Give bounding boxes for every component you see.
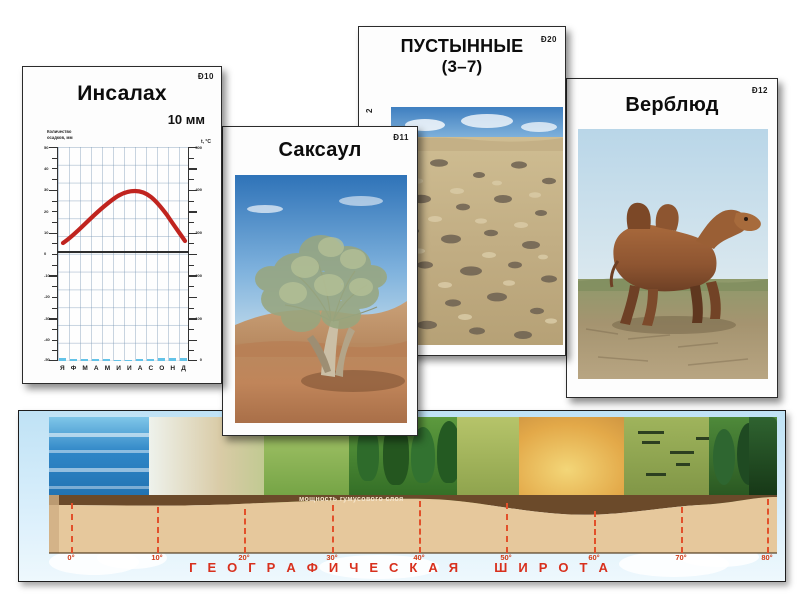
t-tick-label: 50 [44, 145, 48, 150]
t-tick-label: -20 [44, 294, 50, 299]
saksaul-photo [235, 175, 407, 423]
card-saksaul[interactable]: Ð11 Саксаул [222, 126, 418, 436]
month-label: Ф [71, 365, 77, 372]
card-code-label: Ð20 [541, 35, 557, 44]
card-side-code-label: 2 [365, 109, 374, 113]
card-code-label: Ð11 [393, 133, 409, 142]
card-title-climate: Инсалах [23, 83, 221, 105]
t-tick-label: 20 [44, 209, 48, 214]
annual-precipitation-label: 10 мм [168, 112, 205, 127]
saksaul-illustration [235, 175, 407, 423]
poster-canvas: мощность гумусового слоя 0° 10° 20° 30° … [0, 0, 800, 600]
t-tick-label: 40 [44, 166, 48, 171]
camel-photo [578, 129, 768, 379]
card-camel[interactable]: Ð12 Верблюд [566, 78, 778, 398]
y-axis-right [189, 147, 203, 361]
latitude-tick [157, 507, 159, 553]
camel-illustration [578, 129, 768, 379]
card-title-saksaul: Саксаул [223, 140, 417, 161]
card-title-desert-line2: (3–7) [359, 58, 565, 76]
t-tick-label: -50 [44, 357, 50, 362]
t-tick-label: -10 [44, 273, 50, 278]
latitude-axis-title: ГЕОГРАФИЧЕСКАЯ ШИРОТА [19, 560, 785, 575]
biome-dark-forest [749, 417, 777, 505]
latitude-tick [332, 505, 334, 553]
biome-ocean [49, 417, 159, 505]
month-label: А [138, 365, 143, 372]
card-title-camel: Верблюд [567, 95, 777, 116]
latitude-tick [594, 511, 596, 553]
temperature-curve [57, 147, 189, 361]
latitude-tick [419, 501, 421, 553]
latitude-tick [71, 503, 73, 553]
precipitation-bars [57, 354, 189, 361]
month-label: И [116, 365, 121, 372]
t-tick-label: 10 [44, 230, 48, 235]
month-axis: Я Ф М А М И И А С О Н Д [57, 365, 189, 372]
month-label: Н [170, 365, 175, 372]
latitude-tick [681, 507, 683, 553]
climate-chart: Количество осадков, мм t, °C [29, 129, 217, 379]
month-label: Д [181, 365, 186, 372]
month-label: О [159, 365, 164, 372]
biome-sand-desert [519, 417, 639, 505]
card-title-desert-line1: ПУСТЫННЫЕ [359, 37, 565, 56]
humus-thickness-label: мощность гумусового слоя [299, 496, 404, 503]
month-label: А [94, 365, 99, 372]
month-label: Я [60, 365, 65, 372]
t-tick-label: 0 [44, 251, 46, 256]
month-label: М [105, 365, 110, 372]
latitude-tick [506, 503, 508, 553]
y-axis-left-label: Количество осадков, мм [47, 129, 107, 140]
month-label: М [82, 365, 87, 372]
y-axis-right-label: t, °C [201, 139, 211, 145]
card-code-label: Ð10 [198, 72, 214, 81]
t-tick-label: 30 [44, 187, 48, 192]
latitude-tick [767, 499, 769, 553]
latitude-tick [244, 509, 246, 553]
card-climate-diagram[interactable]: Ð10 Инсалах 10 мм Количество осадков, мм… [22, 66, 222, 384]
t-tick-label: -40 [44, 337, 50, 342]
month-label: И [127, 365, 132, 372]
t-tick-label: -30 [44, 316, 50, 321]
month-label: С [148, 365, 153, 372]
card-code-label: Ð12 [752, 86, 768, 95]
